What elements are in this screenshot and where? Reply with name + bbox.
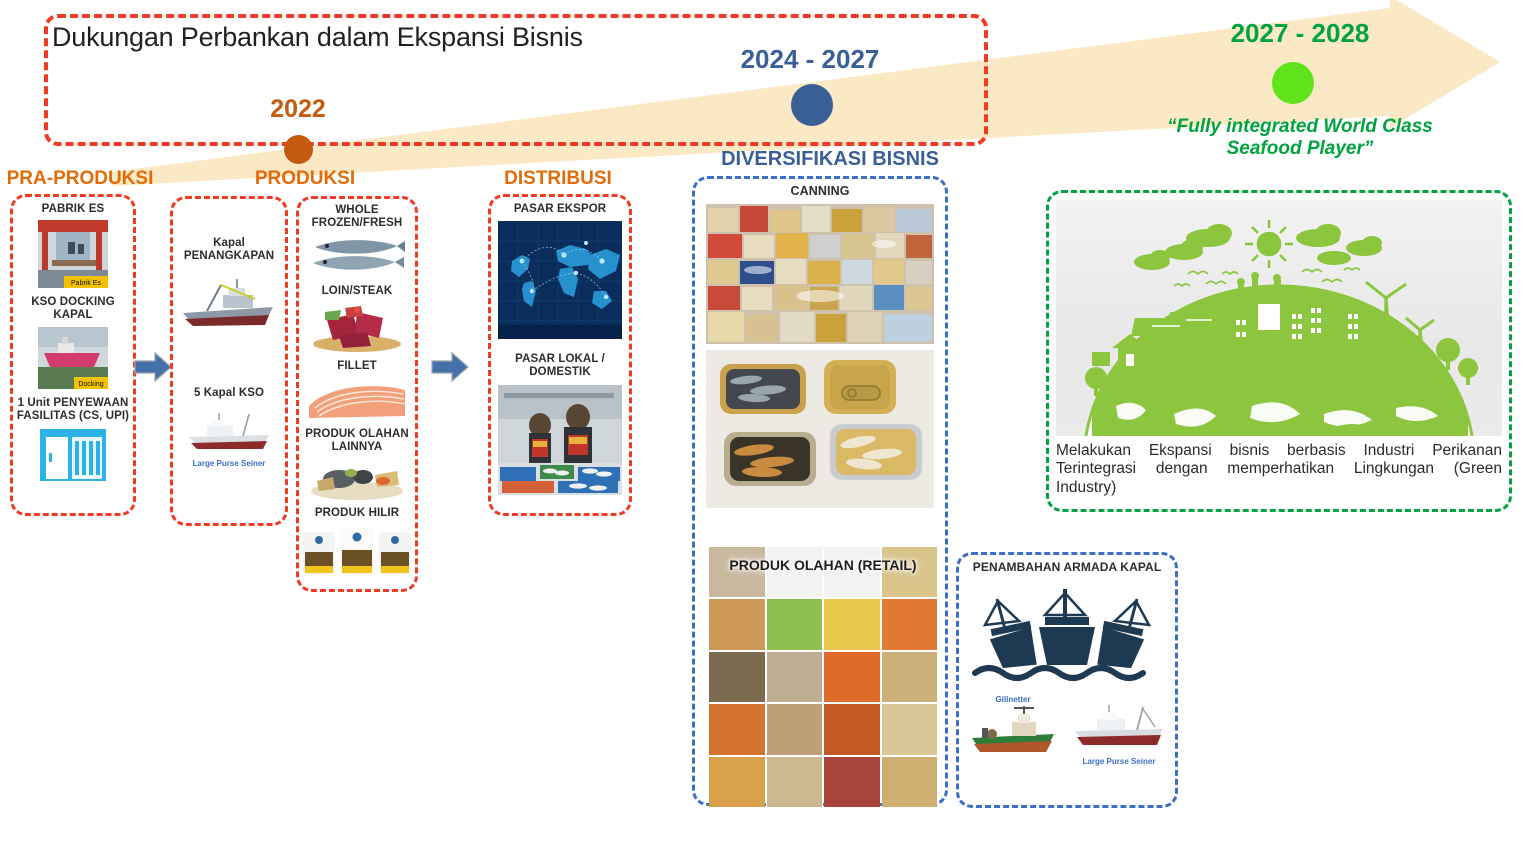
product-caption-3: PRODUK OLAHAN LAINNYA <box>299 428 415 454</box>
ship-docking-photo: Docking <box>38 327 108 389</box>
banking-support-title: Dukungan Perbankan dalam Ekspansi Bisnis <box>52 22 752 53</box>
tuna-loin-photo <box>305 302 409 354</box>
stage-heading-produksi: PRODUKSI <box>210 168 400 190</box>
product-caption-4: PRODUK HILIR <box>299 507 415 520</box>
purse-seiner-sublabel: Large Purse Seiner <box>173 459 285 468</box>
processed-seafood-photo <box>305 457 409 501</box>
dist-item-caption-0: PASAR EKSPOR <box>491 203 629 216</box>
product-caption-1: LOIN/STEAK <box>299 285 415 298</box>
ice-factory-photo: Pabrik Es <box>38 220 108 288</box>
vessel-caption-1: 5 Kapal KSO <box>173 387 285 400</box>
vessel-caption-0: Kapal PENANGKAPAN <box>173 237 285 263</box>
milestone-label-2022: 2022 <box>238 95 358 124</box>
timeline-dot-2027-2028 <box>1272 62 1314 104</box>
salmon-fillet-photo <box>305 376 409 422</box>
svg-text:Pabrik Es: Pabrik Es <box>71 280 101 287</box>
armada-caption: PENAMBAHAN ARMADA KAPAL <box>959 561 1175 575</box>
product-caption-0: WHOLE FROZEN/FRESH <box>299 204 415 230</box>
milestone-label-2024-2027: 2024 - 2027 <box>680 44 940 75</box>
packaged-product-photo <box>301 524 413 576</box>
distribusi-box: PASAR EKSPOR <box>488 194 632 516</box>
stage-heading-distribusi: DISTRIBUSI <box>468 168 648 190</box>
product-caption-2: FILLET <box>299 360 415 373</box>
canning-caption: CANNING <box>695 184 945 198</box>
pra-produksi-box: PABRIK ES Pabrik Es KSO DOCKING KAPAL <box>10 194 136 516</box>
pra-item-caption-1: KSO DOCKING KAPAL <box>13 296 133 322</box>
armada-box: PENAMBAHAN ARMADA KAPAL <box>956 552 1178 808</box>
pra-item-caption-2: 1 Unit PENYEWAAN FASILITAS (CS, UPI) <box>13 397 133 423</box>
produksi-product-box: WHOLE FROZEN/FRESH LOIN/STEAK FILLET <box>296 196 418 592</box>
retail-grid-title: PRODUK OLAHAN (RETAIL) <box>709 557 937 573</box>
gillnetter-boat-photo <box>966 704 1060 760</box>
retail-product-grid <box>709 547 937 807</box>
large-purse-seiner-photo <box>1069 703 1169 755</box>
large-purse-seiner-label: Large Purse Seiner <box>1069 757 1169 766</box>
whole-fish-photo <box>305 233 409 279</box>
arrow-pra-to-produksi <box>133 350 173 389</box>
gillnetter-label: Gillnetter <box>965 695 1061 704</box>
vision-statement: “Fully integrated World Class Seafood Pl… <box>1160 116 1440 161</box>
milestone-label-2027-2028: 2027 - 2028 <box>1170 18 1430 49</box>
open-sardine-cans-photo <box>706 350 934 508</box>
cold-storage-icon <box>38 427 108 483</box>
canned-goods-stack-photo <box>706 204 934 344</box>
green-globe-eco-city-illustration <box>1056 200 1502 436</box>
stage-heading-pra-produksi: PRA-PRODUKSI <box>0 168 160 190</box>
world-map-network-photo <box>498 221 622 339</box>
arrow-produksi-to-distribusi <box>430 350 470 389</box>
canning-box: CANNING <box>692 176 948 806</box>
stage-heading-diversifikasi: DIVERSIFIKASI BISNIS <box>660 148 1000 171</box>
timeline-dot-2024-2027 <box>791 84 833 126</box>
dist-item-caption-1: PASAR LOKAL / DOMESTIK <box>491 353 629 379</box>
fishing-vessel-photo <box>177 273 281 335</box>
produksi-vessel-box: Kapal PENANGKAPAN 5 Kapal KSO Large Purs… <box>170 196 288 526</box>
green-industry-caption: Melakukan Ekspansi bisnis berbasis Indus… <box>1056 442 1502 497</box>
three-ships-icon <box>967 581 1167 693</box>
pra-item-caption-0: PABRIK ES <box>13 203 133 216</box>
timeline-dot-2022 <box>284 135 313 164</box>
svg-text:Docking: Docking <box>78 381 103 388</box>
purse-seiner-photo <box>183 409 275 457</box>
fish-market-photo <box>498 385 622 495</box>
